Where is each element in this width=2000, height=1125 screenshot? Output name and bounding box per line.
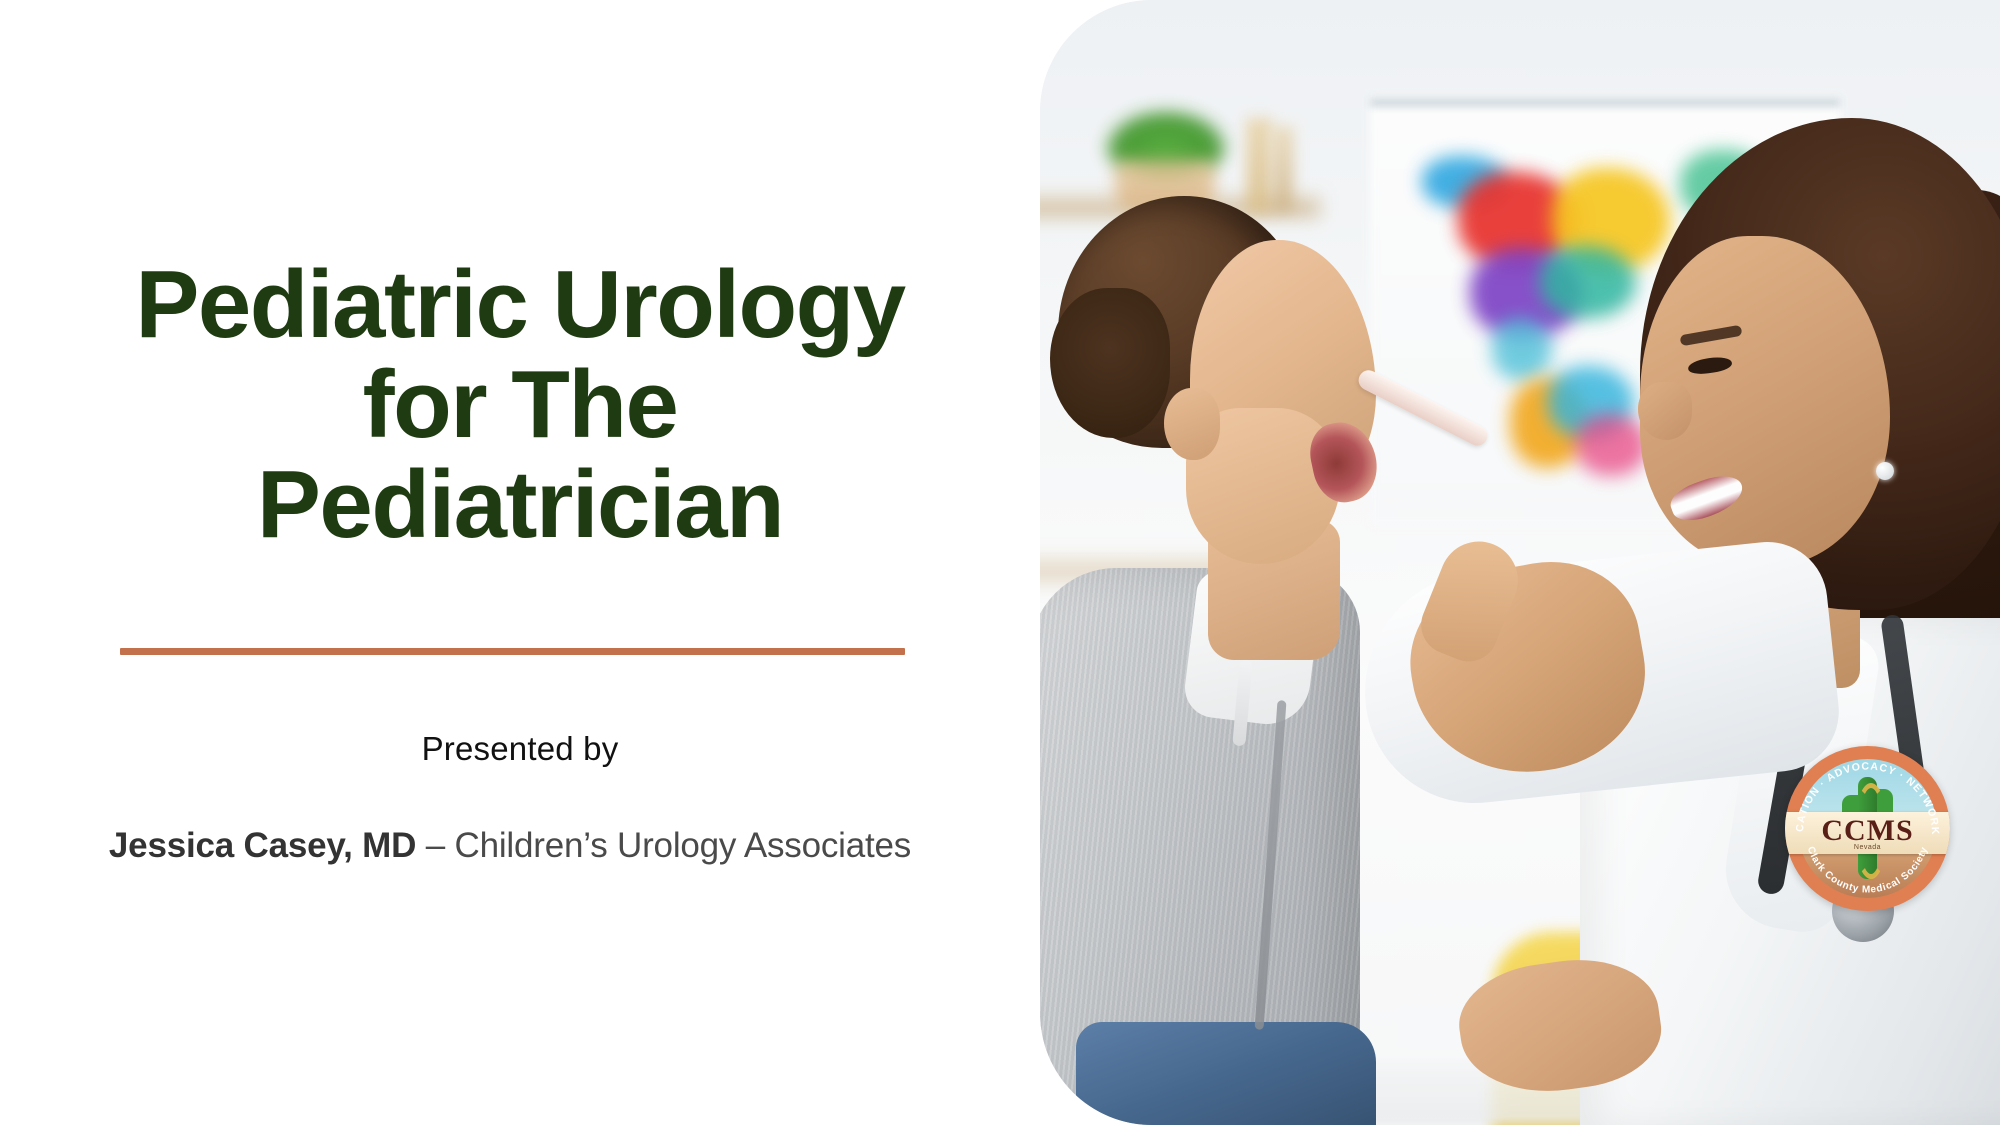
title-divider-rule [120,648,905,655]
clinic-photo-panel: CCMS Nevada EDUCATION · ADVOCACY · NETWO… [1040,0,2000,1125]
presenter-separator: – [416,826,454,865]
presenter-name: Jessica Casey, MD [109,826,416,865]
presented-by-label: Presented by [90,730,950,768]
world-map-rail [1370,98,1840,107]
doctor-nose [1638,382,1692,440]
boy-ear [1164,388,1220,460]
map-region-blob [1492,318,1552,380]
slide-text-column: Pediatric Urology for The Pediatrician P… [0,0,1040,1125]
presenter-credit-line: Jessica Casey, MD – Children’s Urology A… [20,826,1000,866]
boy-blue-jeans [1076,1022,1376,1125]
svg-text:Clark County Medical Society: Clark County Medical Society [1805,845,1931,895]
map-region-blob [1576,414,1648,476]
doctor-earring [1876,462,1894,480]
ccms-bottom-arc-text: Clark County Medical Society [1785,746,1950,911]
shelf-book-b [1272,126,1294,212]
slide-title: Pediatric Urology for The Pediatrician [90,255,950,554]
presentation-slide: Pediatric Urology for The Pediatrician P… [0,0,2000,1125]
presenter-organization: Children’s Urology Associates [455,826,912,865]
ccms-logo: CCMS Nevada EDUCATION · ADVOCACY · NETWO… [1785,746,1950,911]
shelf-book-a [1246,118,1272,213]
map-region-blob [1540,246,1636,318]
